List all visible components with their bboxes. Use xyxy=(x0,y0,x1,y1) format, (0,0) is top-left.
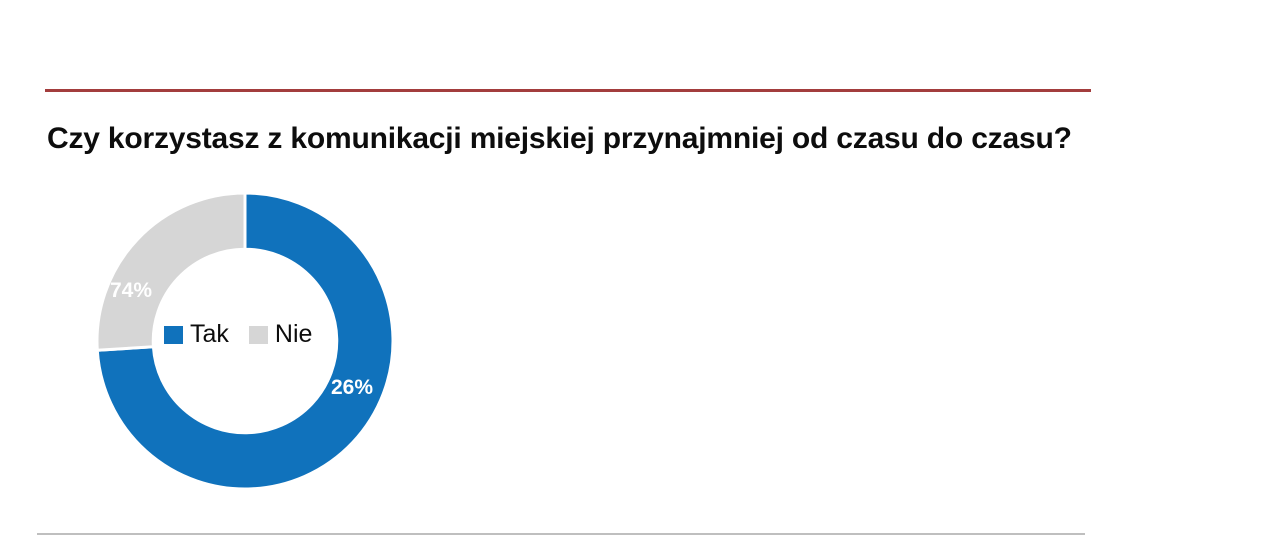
legend-label-tak: Tak xyxy=(190,322,229,347)
chart-legend: Tak Nie xyxy=(164,322,312,347)
legend-swatch-icon-tak xyxy=(164,326,183,344)
legend-label-nie: Nie xyxy=(275,322,313,347)
title-accent-rule xyxy=(45,89,1091,92)
slice-value-label-nie: 26% xyxy=(331,376,373,400)
legend-item-tak[interactable]: Tak xyxy=(164,322,229,347)
legend-swatch-icon-nie xyxy=(249,326,268,344)
slice-value-label-tak: 74% xyxy=(110,279,152,303)
donut-chart: 74% 26% Tak Nie xyxy=(86,182,406,502)
footer-rule xyxy=(37,533,1085,535)
legend-item-nie[interactable]: Nie xyxy=(249,322,313,347)
slide-canvas: Czy korzystasz z komunikacji miejskiej p… xyxy=(0,0,1262,542)
page-title: Czy korzystasz z komunikacji miejskiej p… xyxy=(47,121,1107,157)
